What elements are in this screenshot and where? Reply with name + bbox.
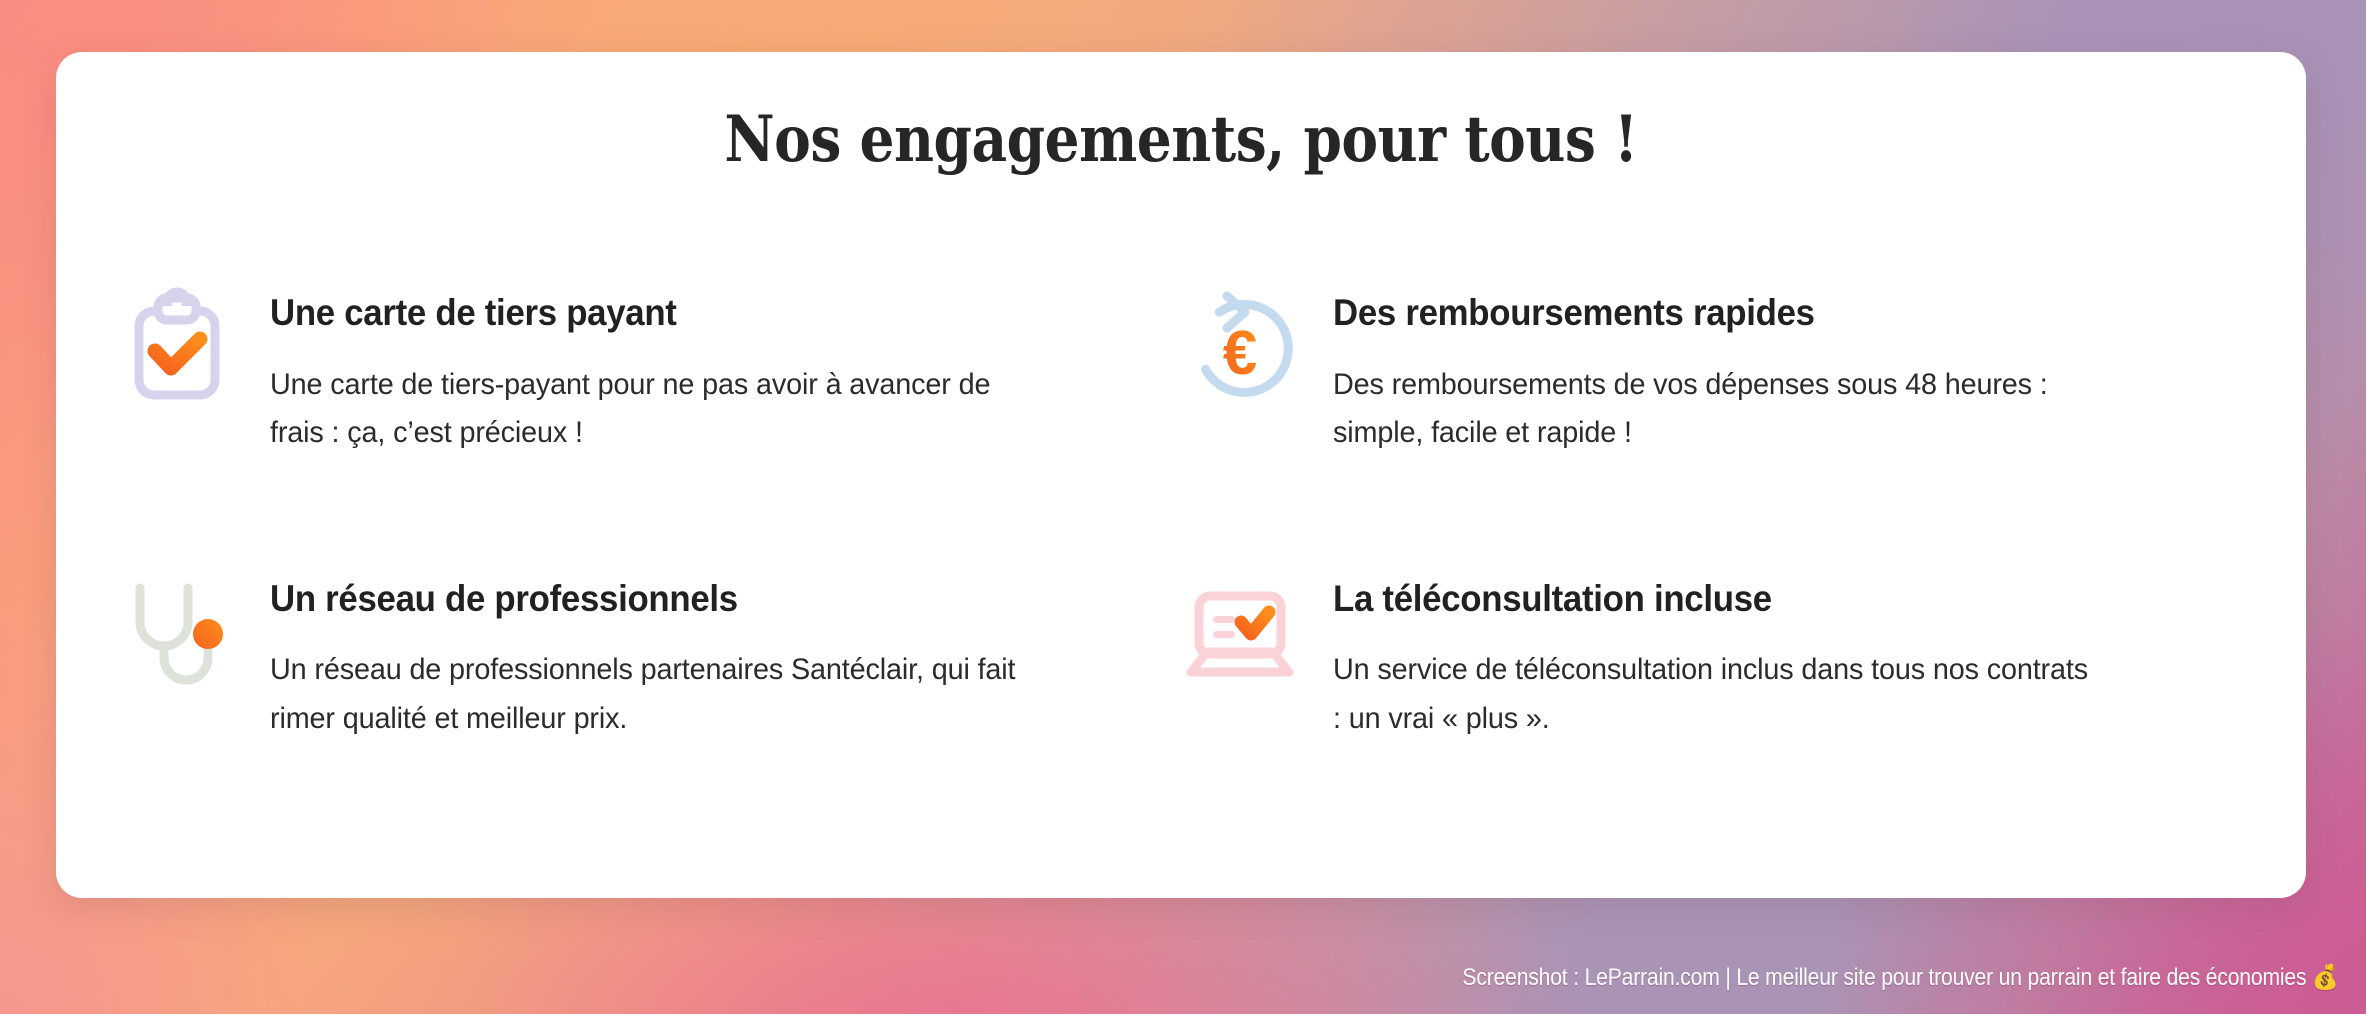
feature-text: La téléconsultation incluse Un service d…	[1333, 576, 2244, 744]
feature-item: € Des remboursements rapides Des rembour…	[1181, 290, 2244, 458]
euro-refresh-icon: €	[1181, 290, 1299, 408]
stethoscope-icon	[118, 576, 236, 694]
features-grid: Une carte de tiers payant Une carte de t…	[56, 290, 2306, 743]
screenshot-watermark: Screenshot : LeParrain.com | Le meilleur…	[1462, 963, 2338, 992]
clipboard-check-icon	[118, 290, 236, 408]
feature-description: Un service de téléconsultation inclus da…	[1333, 646, 2101, 743]
svg-text:€: €	[1223, 319, 1257, 388]
feature-item: Une carte de tiers payant Une carte de t…	[118, 290, 1181, 458]
feature-item: Un réseau de professionnels Un réseau de…	[118, 576, 1181, 744]
feature-text: Une carte de tiers payant Une carte de t…	[270, 290, 1181, 458]
page-title: Nos engagements, pour tous !	[214, 102, 2149, 177]
feature-title: Des remboursements rapides	[1333, 292, 2189, 335]
engagements-card: Nos engagements, pour tous !	[56, 52, 2306, 898]
feature-title: Un réseau de professionnels	[270, 578, 1126, 621]
feature-item: La téléconsultation incluse Un service d…	[1181, 576, 2244, 744]
feature-description: Un réseau de professionnels partenaires …	[270, 646, 1019, 743]
feature-text: Des remboursements rapides Des rembourse…	[1333, 290, 2244, 458]
feature-title: Une carte de tiers payant	[270, 292, 1126, 335]
feature-description: Des remboursements de vos dépenses sous …	[1333, 361, 2101, 458]
laptop-check-icon	[1181, 576, 1299, 694]
feature-text: Un réseau de professionnels Un réseau de…	[270, 576, 1181, 744]
feature-description: Une carte de tiers-payant pour ne pas av…	[270, 361, 1019, 458]
feature-title: La téléconsultation incluse	[1333, 578, 2189, 621]
